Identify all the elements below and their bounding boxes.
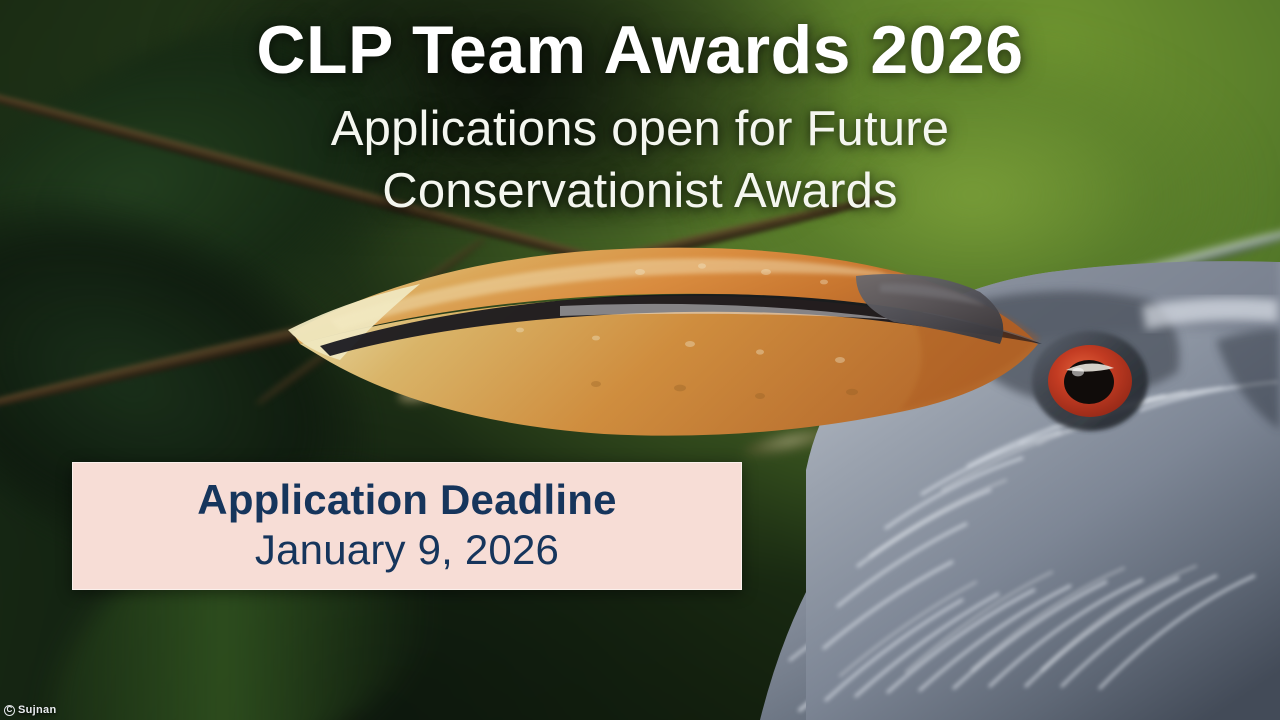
headline-block: CLP Team Awards 2026 Applications open f… (0, 16, 1280, 223)
page-title: CLP Team Awards 2026 (0, 16, 1280, 85)
deadline-date: January 9, 2026 (255, 525, 559, 575)
deadline-card: Application Deadline January 9, 2026 (72, 462, 742, 590)
deadline-label: Application Deadline (197, 476, 616, 523)
copyright-icon: C (4, 705, 15, 716)
photographer-credit: Sujnan (18, 704, 56, 716)
photo-credit-watermark: C Sujnan (4, 704, 56, 716)
subtitle-line-1: Applications open for Future (0, 99, 1280, 161)
awards-poster: CLP Team Awards 2026 Applications open f… (0, 0, 1280, 720)
subtitle-line-2: Conservationist Awards (0, 161, 1280, 223)
hornbill-eye (1032, 331, 1148, 431)
page-subtitle: Applications open for Future Conservatio… (0, 99, 1280, 222)
